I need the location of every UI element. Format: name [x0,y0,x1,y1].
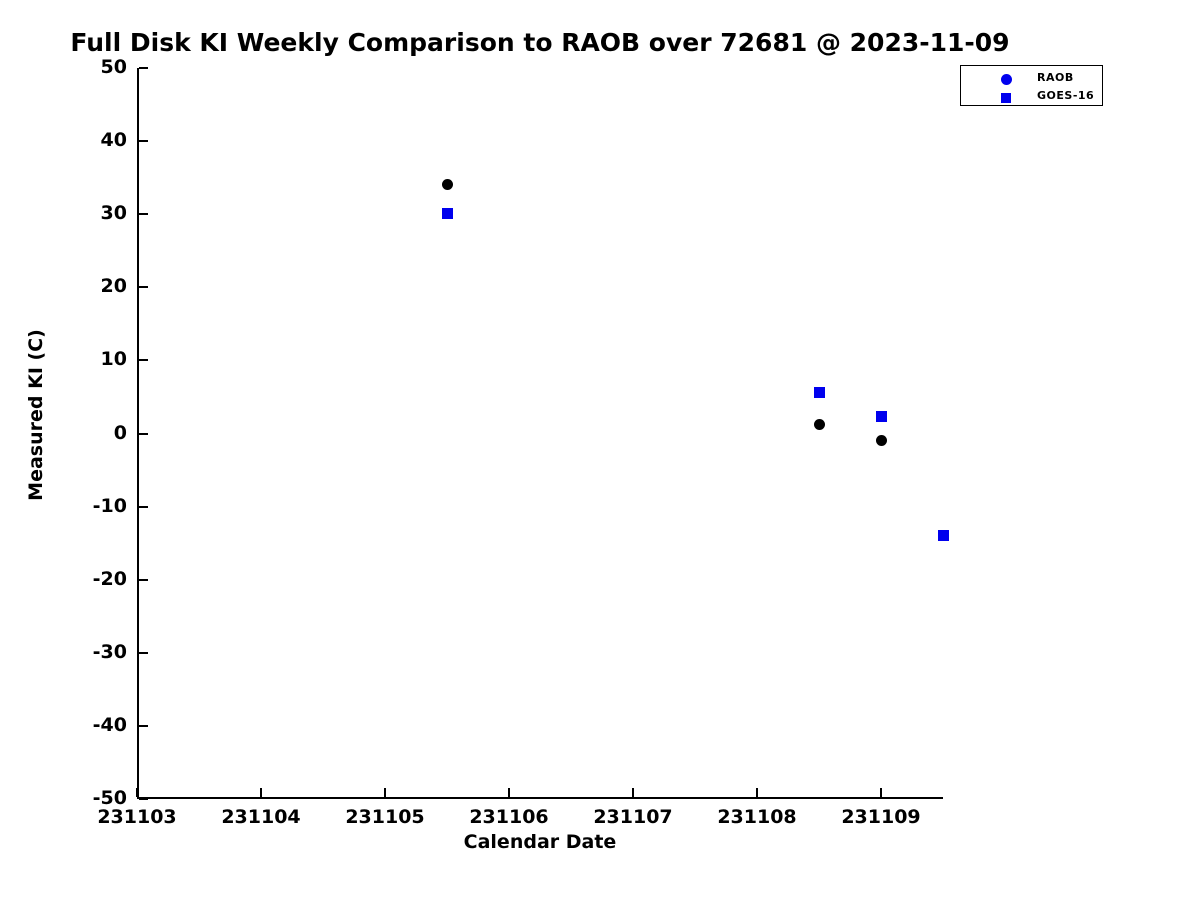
y-tick-label: 40 [57,129,127,151]
y-tick [139,359,148,361]
y-tick [139,433,148,435]
y-tick [139,286,148,288]
data-point-goes-16 [938,530,949,541]
y-tick-label: 20 [57,275,127,297]
y-tick [139,579,148,581]
data-point-raob [876,435,887,446]
data-point-goes-16 [442,208,453,219]
chart-figure: Full Disk KI Weekly Comparison to RAOB o… [0,0,1200,900]
y-tick-label: 30 [57,202,127,224]
y-tick-label: -40 [57,714,127,736]
y-tick-label: 0 [57,422,127,444]
y-axis-label: Measured KI (C) [25,305,47,525]
y-tick [139,652,148,654]
x-tick-label: 231109 [801,806,961,828]
y-tick-label: -20 [57,568,127,590]
y-tick-label: -30 [57,641,127,663]
x-tick [136,788,138,797]
x-axis-spine [137,797,943,799]
legend: RAOBGOES-16 [960,65,1103,106]
y-tick-label: 10 [57,348,127,370]
y-tick [139,140,148,142]
y-tick [139,213,148,215]
data-point-goes-16 [814,387,825,398]
y-tick [139,725,148,727]
y-tick [139,67,148,69]
data-point-raob [814,419,825,430]
legend-circle-icon [1001,74,1012,85]
chart-title: Full Disk KI Weekly Comparison to RAOB o… [0,28,1080,57]
legend-square-icon [1001,93,1011,103]
y-tick-label: -10 [57,495,127,517]
x-axis-label: Calendar Date [137,831,943,853]
x-tick [880,788,882,797]
x-tick [632,788,634,797]
x-tick [756,788,758,797]
legend-label: GOES-16 [1037,89,1094,102]
legend-item-raob[interactable]: RAOB [961,71,1104,89]
y-tick [139,506,148,508]
y-tick-label: 50 [57,56,127,78]
y-tick [139,798,148,800]
legend-label: RAOB [1037,71,1074,84]
x-tick [508,788,510,797]
x-tick [384,788,386,797]
plot-area [137,68,943,799]
data-point-raob [442,179,453,190]
legend-item-goes-16[interactable]: GOES-16 [961,89,1104,107]
data-point-goes-16 [876,411,887,422]
x-tick [260,788,262,797]
